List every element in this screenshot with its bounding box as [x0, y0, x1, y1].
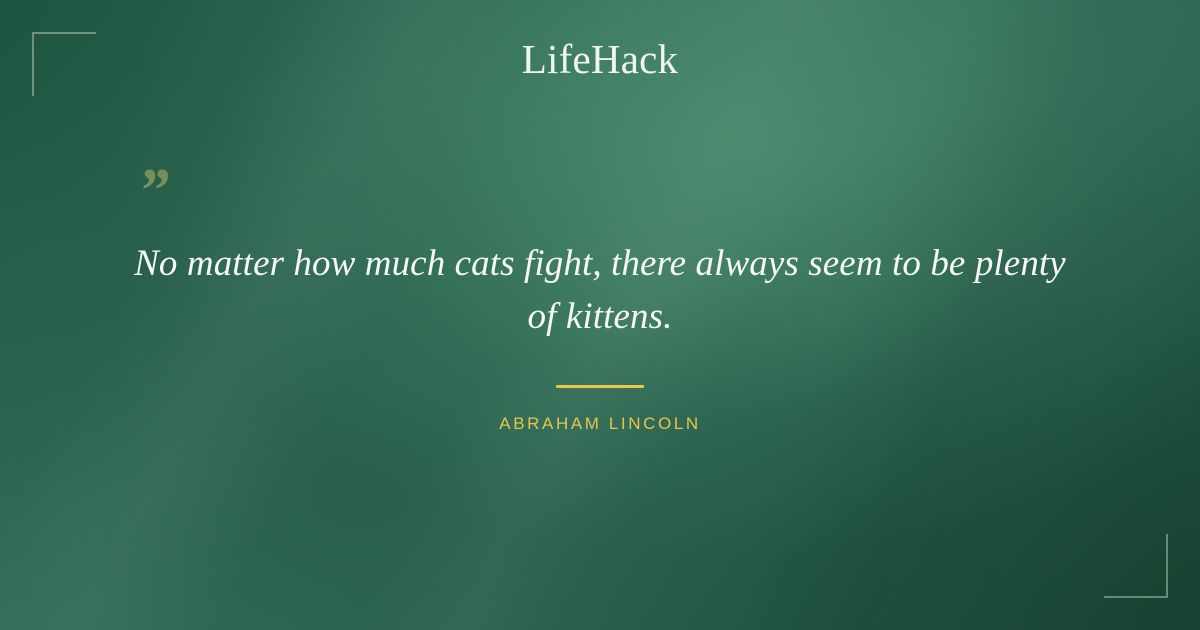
quotation-mark-icon: ” [110, 160, 1090, 202]
gold-divider [556, 385, 644, 388]
quote-card: LifeHack ” No matter how much cats fight… [0, 0, 1200, 630]
brand-logo: LifeHack [0, 38, 1200, 81]
quote-author: ABRAHAM LINCOLN [110, 414, 1090, 434]
quote-text: No matter how much cats fight, there alw… [110, 238, 1090, 343]
quote-block: ” No matter how much cats fight, there a… [110, 160, 1090, 434]
corner-bracket-bottom-right-icon [1104, 534, 1168, 598]
quote-line-1: No matter how much cats fight, there alw… [134, 243, 965, 284]
